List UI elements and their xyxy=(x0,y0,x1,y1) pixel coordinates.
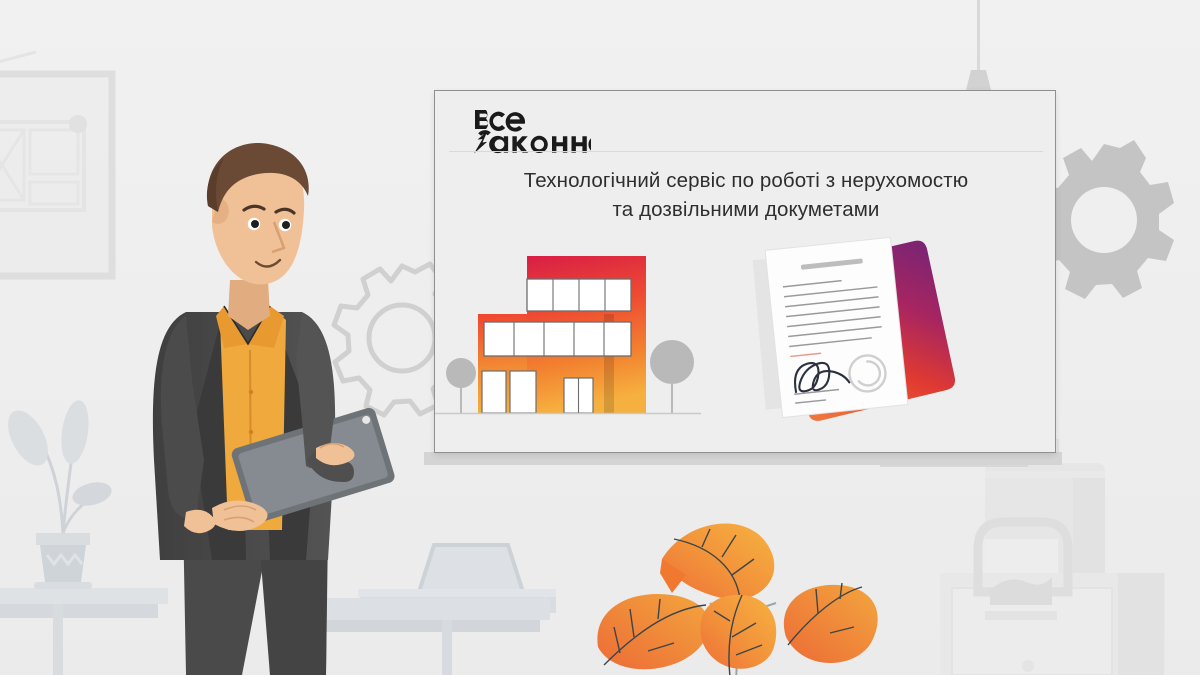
logo-separator xyxy=(449,151,1043,152)
slide-shelf xyxy=(424,452,1062,465)
building-window-row-middle xyxy=(484,322,631,356)
businessman-with-tablet xyxy=(120,130,420,675)
logo-line1 xyxy=(475,110,525,132)
slide-title-line2: та дозвільними докуметами xyxy=(455,195,1037,224)
scene-root: все законно Технологічний сервіс по робо… xyxy=(0,0,1200,675)
presentation-slide[interactable]: все законно Технологічний сервіс по робо… xyxy=(434,90,1056,453)
slide-illustrations xyxy=(435,231,1055,446)
leaf-top xyxy=(660,524,774,600)
leaf-center xyxy=(700,595,776,675)
slide-title-line1: Технологічний сервіс по роботі з нерухом… xyxy=(455,166,1037,195)
logo-mark xyxy=(473,108,591,154)
slide-title: Технологічний сервіс по роботі з нерухом… xyxy=(455,166,1037,224)
building-window-row-top xyxy=(527,279,631,311)
logo-line2 xyxy=(474,130,591,153)
leaf-left xyxy=(597,594,709,669)
tree-right xyxy=(650,340,694,413)
orange-leaf-plant xyxy=(590,495,880,675)
office-building-illustration xyxy=(435,256,701,414)
leaf-right xyxy=(784,583,878,663)
tree-left xyxy=(446,358,476,413)
documents-illustration xyxy=(753,237,957,422)
wall-picture-frame xyxy=(0,52,112,276)
